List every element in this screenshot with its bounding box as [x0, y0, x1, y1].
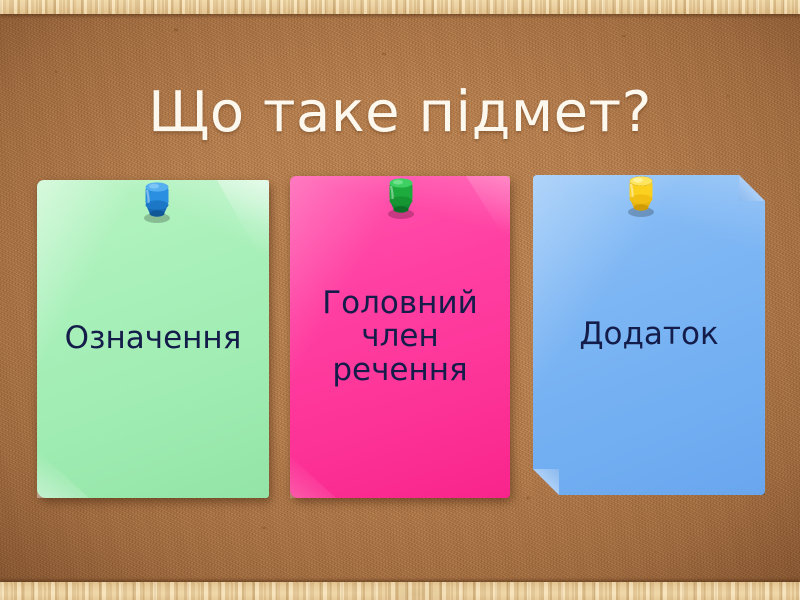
- note-fold-bottom-left: [533, 469, 559, 495]
- note-label: Головний член речення: [303, 287, 497, 387]
- page-title: Що таке підмет?: [0, 80, 800, 145]
- wooden-frame-bottom: [0, 582, 800, 600]
- note-label: Додаток: [547, 318, 751, 351]
- sticky-note-blue[interactable]: Додаток: [533, 175, 765, 495]
- note-fold-top-right: [739, 175, 765, 201]
- sticky-note-green[interactable]: Означення: [37, 180, 269, 498]
- sticky-note-pink[interactable]: Головний член речення: [290, 176, 510, 498]
- note-label: Означення: [51, 322, 255, 355]
- slide-canvas: Що таке підмет? Означення Головний член …: [0, 0, 800, 600]
- wooden-frame-top: [0, 0, 800, 14]
